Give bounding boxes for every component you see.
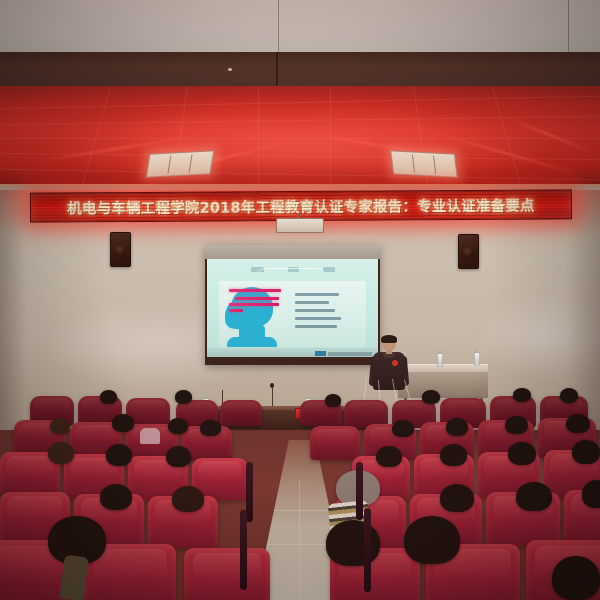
wall-shadow-left [0, 190, 26, 440]
seat-divider [364, 508, 371, 592]
audience-member [566, 414, 590, 433]
projection-screen-surface [207, 259, 378, 357]
audience-member [440, 444, 467, 466]
seat-divider [240, 510, 247, 590]
wall-speaker-right [458, 234, 479, 269]
microphone-head [270, 383, 274, 388]
seat [220, 400, 262, 426]
microphone-stand [272, 386, 273, 408]
audience-member [392, 420, 414, 437]
ceiling-sensor-dot [228, 68, 232, 71]
audience-member [112, 414, 134, 432]
slide-accent-line [229, 289, 281, 292]
lecture-hall-photo: 机电与车辆工程学院2018年工程教育认证专家报告：专业认证准备要点 [0, 0, 600, 600]
ceiling-projector [276, 218, 324, 233]
slide-bullet-item [295, 301, 329, 304]
audience-member [175, 390, 192, 404]
ceiling-soffit [0, 0, 600, 56]
audience-member [404, 516, 460, 564]
audience-member [572, 440, 600, 464]
audience-member [505, 416, 528, 434]
presenter [372, 336, 406, 398]
red-lit-ceiling [0, 86, 600, 186]
audience-member [168, 418, 188, 434]
audience-member [200, 420, 221, 436]
audience-member [166, 446, 191, 467]
audience-member [325, 394, 341, 407]
slide-footer-text [328, 352, 372, 356]
slide-bullet-item [295, 293, 339, 296]
ceiling-light-panel-right [390, 150, 457, 177]
audience-member [106, 444, 132, 466]
seat [310, 426, 360, 460]
audience-member [508, 442, 536, 465]
audience-shirt [140, 428, 160, 444]
seat-divider [246, 462, 253, 522]
slide-accent-line [229, 309, 243, 312]
audience-member [100, 484, 132, 510]
side-table-body [398, 372, 488, 398]
soffit-seam [278, 0, 279, 56]
ceiling-light-glow [40, 101, 560, 186]
audience-member [440, 484, 474, 512]
slide-footer-badge [315, 351, 326, 356]
audience-member [326, 520, 380, 566]
seat-divider [356, 462, 363, 520]
slide-header-arc [255, 268, 327, 279]
slide-accent-text [229, 289, 291, 315]
slide-bullet-item [295, 317, 341, 320]
audience-member [376, 446, 402, 467]
slide-bullet-list [295, 293, 355, 333]
audience-member [48, 442, 74, 464]
audience-member [582, 480, 600, 508]
projection-screen-header [205, 245, 380, 259]
slide-accent-line [229, 303, 279, 306]
slide-bullet-item [295, 325, 337, 328]
audience-member [100, 390, 117, 404]
audience-member [422, 390, 440, 404]
audience-member [516, 482, 552, 511]
audience-member [172, 486, 204, 512]
audience-member [446, 418, 468, 436]
water-bottle [474, 352, 480, 366]
soffit-seam [568, 0, 569, 56]
slide-footer [207, 348, 378, 357]
audience-member [560, 388, 578, 403]
presenter-shirt-logo [392, 360, 398, 366]
ceiling-band-seam [276, 52, 278, 88]
ceiling-light-panel-left [146, 150, 214, 177]
presenter-hair [381, 335, 397, 343]
slide-accent-line [235, 297, 279, 300]
water-bottle [437, 353, 443, 367]
seat [184, 548, 270, 600]
silhouette-shoulder [227, 337, 277, 347]
slide-bullet-item [295, 309, 335, 312]
audience-member [513, 388, 531, 402]
audience-member [552, 556, 600, 600]
audience-member [50, 418, 70, 434]
wall-speaker-left [110, 232, 131, 267]
ceiling-dark-band [0, 52, 600, 88]
